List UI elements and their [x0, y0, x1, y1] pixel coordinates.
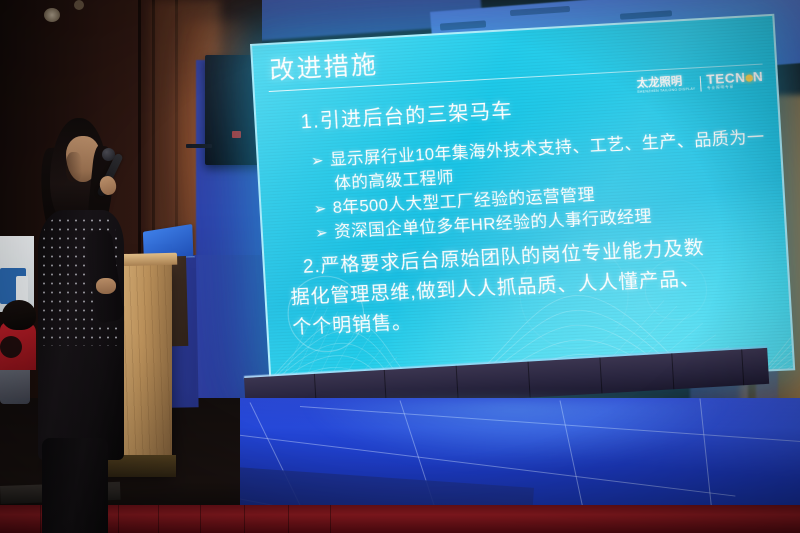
bullet-arrow-icon: ➢: [313, 199, 327, 218]
audience-member-head: [2, 300, 36, 330]
presenter-skirt: [42, 438, 108, 533]
bullet-arrow-icon: ➢: [310, 151, 324, 170]
slide-content: 改进措施 太龙照明 SHENZHEN TAILONG DISPLAY TECNN…: [252, 16, 793, 391]
microphone-capsule: [102, 148, 115, 161]
logo-english-name: TECNN: [706, 70, 764, 86]
presenter-face-shadow: [66, 152, 82, 182]
logo-divider: [700, 76, 702, 91]
ceiling-sprinkler-icon: [74, 0, 84, 10]
jbl-logo-icon: [232, 131, 241, 138]
slide-title: 改进措施: [268, 45, 379, 87]
bullet-arrow-icon: ➢: [315, 223, 329, 242]
banner-logo-cutout: [16, 276, 28, 302]
conference-presentation-photo: 改进措施 太龙照明 SHENZHEN TAILONG DISPLAY TECNN…: [0, 0, 800, 533]
logo-english-subtitle: 专业照明专家: [707, 85, 735, 92]
led-video-wall[interactable]: 改进措施 太龙照明 SHENZHEN TAILONG DISPLAY TECNN…: [250, 14, 795, 393]
presenter-hand-resting: [96, 278, 116, 294]
tecnon-logo: 太龙照明 SHENZHEN TAILONG DISPLAY TECNN 专业照明…: [636, 70, 764, 95]
speaker-mount-bracket: [186, 144, 212, 148]
stage-skirt: [0, 505, 800, 533]
slide-bullet-1-text: 显示屏行业10年集海外技术支持、工艺、生产、品质为一: [329, 123, 765, 170]
presenter: [34, 118, 130, 488]
slide-paragraph-2-line-3: 个个明销售。: [292, 307, 413, 340]
slide-heading-1: 1.引进后台的三架马车: [300, 94, 514, 135]
floor-reflection-glow: [300, 400, 730, 470]
audience-member-head-2: [0, 336, 22, 358]
ceiling-downlight-icon: [44, 8, 60, 22]
